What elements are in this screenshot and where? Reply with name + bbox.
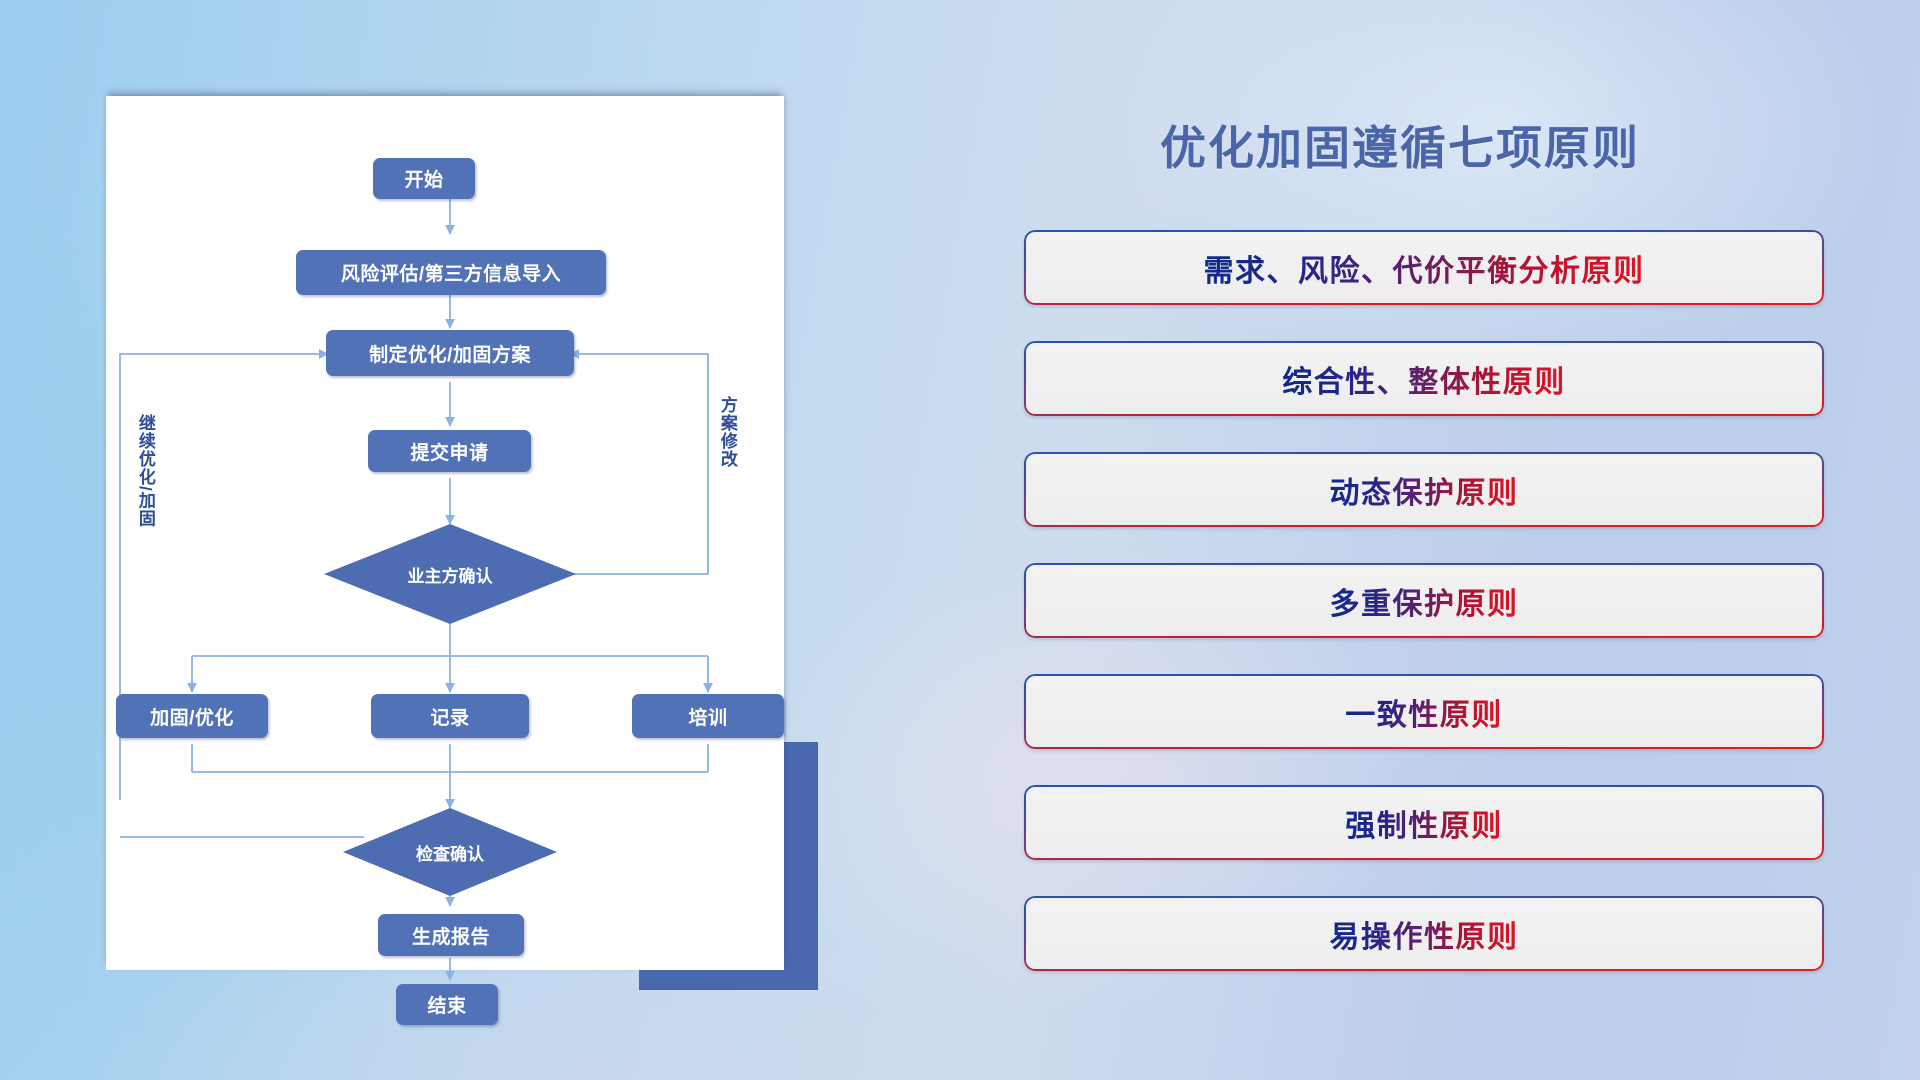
principle-card-3[interactable]: 动态保护原则 bbox=[1024, 452, 1824, 527]
principle-label: 综合性、整体性原则 bbox=[1282, 357, 1566, 401]
flow-node-record[interactable]: 记录 bbox=[371, 694, 529, 738]
flow-node-make-plan[interactable]: 制定优化/加固方案 bbox=[326, 330, 574, 376]
flow-node-risk-assessment[interactable]: 风险评估/第三方信息导入 bbox=[296, 250, 606, 295]
flowchart-diagram: 开始 风险评估/第三方信息导入 制定优化/加固方案 提交申请 业主方确认 加固/… bbox=[106, 96, 784, 970]
edge-label-plan-revision: 方案修改 bbox=[718, 396, 736, 536]
principle-card-5[interactable]: 一致性原则 bbox=[1024, 674, 1824, 749]
principle-card-1[interactable]: 需求、风险、代价平衡分析原则 bbox=[1024, 230, 1824, 305]
principle-label: 一致性原则 bbox=[1345, 690, 1503, 734]
flowchart-panel: 开始 风险评估/第三方信息导入 制定优化/加固方案 提交申请 业主方确认 加固/… bbox=[0, 0, 860, 1080]
flow-node-start[interactable]: 开始 bbox=[373, 158, 475, 199]
principle-label: 强制性原则 bbox=[1345, 801, 1503, 845]
principle-card-4[interactable]: 多重保护原则 bbox=[1024, 563, 1824, 638]
principle-label: 易操作性原则 bbox=[1330, 912, 1519, 956]
principle-label: 动态保护原则 bbox=[1330, 468, 1519, 512]
principle-card-6[interactable]: 强制性原则 bbox=[1024, 785, 1824, 860]
principle-label: 需求、风险、代价平衡分析原则 bbox=[1204, 246, 1645, 290]
flowchart-card: 开始 风险评估/第三方信息导入 制定优化/加固方案 提交申请 业主方确认 加固/… bbox=[106, 96, 784, 970]
flow-node-training[interactable]: 培训 bbox=[632, 694, 784, 738]
flow-node-end[interactable]: 结束 bbox=[396, 984, 498, 1025]
principle-card-7[interactable]: 易操作性原则 bbox=[1024, 896, 1824, 971]
principles-list: 需求、风险、代价平衡分析原则 综合性、整体性原则 动态保护原则 多重保护原则 一… bbox=[1024, 230, 1824, 1007]
flow-node-generate-report[interactable]: 生成报告 bbox=[378, 914, 524, 956]
page-title: 优化加固遵循七项原则 bbox=[1160, 112, 1640, 178]
flow-node-submit-application[interactable]: 提交申请 bbox=[368, 430, 531, 472]
principle-label: 多重保护原则 bbox=[1330, 579, 1519, 623]
flow-node-reinforce-optimize[interactable]: 加固/优化 bbox=[116, 694, 268, 738]
principles-panel: 优化加固遵循七项原则 需求、风险、代价平衡分析原则 综合性、整体性原则 动态保护… bbox=[1010, 0, 1920, 1080]
edge-label-continue-optimize: 继续优化/加固 bbox=[136, 414, 154, 614]
principle-card-2[interactable]: 综合性、整体性原则 bbox=[1024, 341, 1824, 416]
